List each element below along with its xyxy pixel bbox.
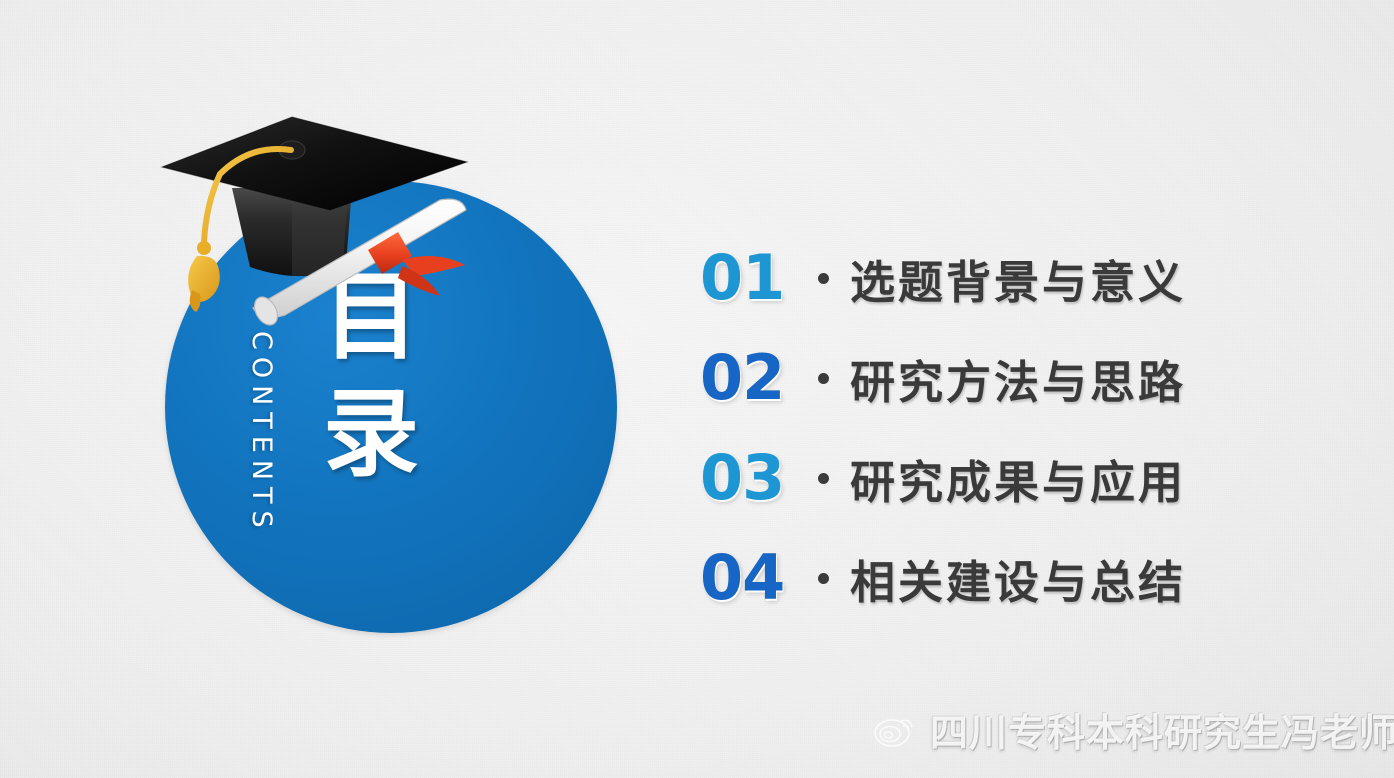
toc-bullet-02: [796, 373, 850, 384]
toc-number-02: 02: [700, 347, 796, 409]
presentation-slide: CONTENTS 目 录: [0, 0, 1394, 778]
toc-item-01[interactable]: 01 选题背景与意义: [700, 228, 1320, 328]
table-of-contents: 01 选题背景与意义 02 研究方法与思路 03 研究成果与应用 04 相关建设…: [700, 228, 1320, 628]
toc-label-04: 相关建设与总结: [850, 546, 1186, 611]
contents-english-label: CONTENTS: [246, 331, 277, 535]
contents-chinese-title: 目 录: [323, 259, 473, 493]
toc-item-02[interactable]: 02 研究方法与思路: [700, 328, 1320, 428]
weibo-logo-icon: [872, 709, 918, 751]
toc-label-02: 研究方法与思路: [850, 346, 1186, 411]
contents-title-char-2: 录: [323, 376, 473, 493]
watermark-text: 四川专科本科研究生冯老师: [930, 702, 1394, 757]
toc-item-04[interactable]: 04 相关建设与总结: [700, 528, 1320, 628]
toc-number-01: 01: [700, 247, 796, 309]
contents-title-char-1: 目: [323, 259, 473, 376]
toc-bullet-04: [796, 573, 850, 584]
toc-item-03[interactable]: 03 研究成果与应用: [700, 428, 1320, 528]
toc-bullet-01: [796, 273, 850, 284]
toc-number-04: 04: [700, 547, 796, 609]
toc-number-03: 03: [700, 447, 796, 509]
watermark: 四川专科本科研究生冯老师: [872, 702, 1394, 757]
toc-label-03: 研究成果与应用: [850, 446, 1186, 511]
toc-bullet-03: [796, 473, 850, 484]
contents-badge: CONTENTS 目 录: [165, 181, 617, 633]
toc-label-01: 选题背景与意义: [850, 246, 1186, 311]
